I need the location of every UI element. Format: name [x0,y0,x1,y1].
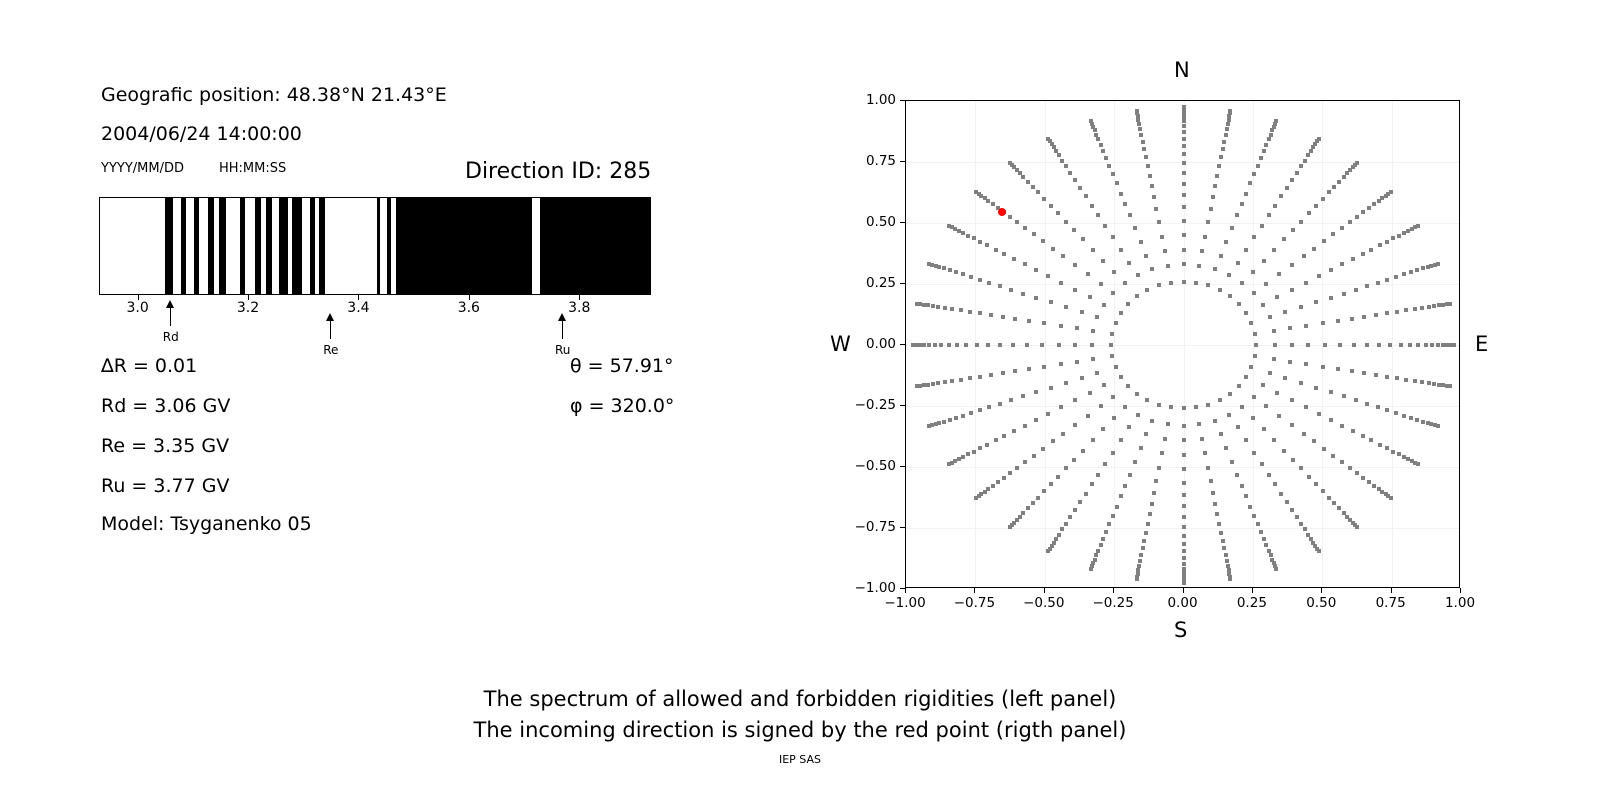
direction-point [936,381,940,385]
direction-point [1182,504,1186,508]
direction-point [1054,149,1058,153]
direction-point [1109,343,1113,347]
direction-point [994,438,998,442]
direction-point [1142,539,1146,543]
direction-point [1355,161,1359,165]
direction-point [961,414,965,418]
direction-point [911,343,915,347]
direction-point [1086,272,1090,276]
direction-point [1119,248,1123,252]
direction-point [1337,180,1341,184]
direction-point [1268,315,1272,319]
direction-point [978,240,982,244]
direction-point [1059,324,1063,328]
direction-point [1032,232,1036,236]
direction-point [1290,343,1294,347]
direction-id-label: Direction ID: 285 [465,159,651,184]
direction-point [1225,127,1229,131]
direction-point [1150,267,1154,271]
direction-point [1182,161,1186,165]
direction-point [1057,153,1061,157]
direction-point [989,313,993,317]
direction-point [1080,310,1084,314]
direction-point [1032,454,1036,458]
direction-point [1402,272,1406,276]
direction-point [948,418,952,422]
direction-point [1322,447,1326,451]
direction-point [1015,220,1019,224]
direction-point [950,379,954,383]
direction-point [943,380,947,384]
direction-point [1336,319,1340,323]
y-axis-tick [900,161,905,162]
forbidden-band [292,198,302,294]
direction-point [1225,559,1229,563]
direction-point [1378,243,1382,247]
direction-point [1111,514,1115,518]
direction-point [1427,381,1431,385]
direction-point [1013,369,1017,373]
direction-point [1354,398,1358,402]
direction-point [1338,343,1342,347]
direction-point [1274,567,1278,571]
direction-point [1015,466,1019,470]
direction-point [1163,249,1167,253]
direction-point [1352,343,1356,347]
direction-point [974,496,978,500]
x-axis-tick [1252,588,1253,593]
direction-point [978,278,982,282]
direction-point [954,416,958,420]
direction-point [1002,476,1006,480]
direction-point [1084,194,1088,198]
direction-point [1148,512,1152,516]
direction-point [1217,164,1221,168]
direction-point [1329,296,1333,300]
direction-point [969,275,973,279]
direction-point [1056,211,1060,215]
y-axis-tick [900,405,905,406]
direction-point [1224,446,1228,450]
direction-point [1061,432,1065,436]
direction-point [1093,128,1097,132]
direction-point [1282,237,1286,241]
direction-point [1021,292,1025,296]
direction-point [1249,365,1253,369]
direction-point [974,190,978,194]
direction-point [1261,303,1265,307]
direction-point [1306,343,1310,347]
direction-point [1273,204,1277,208]
direction-point [1283,376,1287,380]
direction-point [1211,195,1215,199]
direction-point [1009,288,1013,292]
direction-point [1182,424,1186,428]
direction-point [1090,343,1094,347]
direction-point [1148,174,1152,178]
direction-point [1248,505,1252,509]
direction-point [1115,181,1119,185]
direction-point [1049,300,1053,304]
direction-point [991,484,995,488]
direction-point [1262,259,1266,263]
direction-point [1264,143,1268,147]
direction-point [1372,202,1376,206]
direction-point [1421,420,1425,424]
direction-point [1110,332,1114,336]
rd-value: Rd = 3.06 GV [101,395,230,417]
direction-point [1299,466,1303,470]
direction-point [1253,332,1257,336]
direction-point [1182,581,1186,585]
direction-point [1023,460,1027,464]
direction-point [1329,418,1333,422]
direction-point [1104,530,1108,534]
direction-point [1088,295,1092,299]
direction-point [986,487,990,491]
direction-point [1302,254,1306,258]
x-axis-tick [905,588,906,593]
y-axis-tick-label: −1.00 [830,580,896,596]
direction-point [978,311,982,315]
direction-point [1272,329,1276,333]
direction-point [1279,194,1283,198]
direction-point [1397,234,1401,238]
direction-point [1112,416,1116,420]
direction-point [1302,432,1306,436]
direction-point [1262,537,1266,541]
direction-point [1182,262,1186,266]
footer-attribution: IEP SAS [0,753,1600,766]
direction-point [1021,394,1025,398]
direction-point [1182,248,1186,252]
direction-point [1144,155,1148,159]
direction-point [1385,375,1389,379]
direction-point [1209,479,1213,483]
direction-point [1011,343,1015,347]
direction-point [1059,362,1063,366]
direction-point [1409,416,1413,420]
direction-point [1119,375,1123,379]
direction-point [1378,443,1382,447]
direction-point [1027,319,1031,323]
direction-point [1127,261,1131,265]
direction-point [1262,149,1266,153]
direction-point [1385,446,1389,450]
direction-point [1342,175,1346,179]
direction-point [1365,402,1369,406]
direction-point [1197,422,1201,426]
direction-point [1123,484,1127,488]
direction-point [1362,371,1366,375]
direction-point [1256,164,1260,168]
horizontal-gridline [906,223,1459,224]
direction-point [1163,437,1167,441]
direction-point [1136,273,1140,277]
direction-point [1008,525,1012,529]
x-axis-tick-label: −0.25 [1092,595,1133,611]
direction-point [1217,522,1221,526]
direction-point [1182,453,1186,457]
direction-point [1304,324,1308,328]
direction-point [1264,543,1268,547]
direction-point [1001,315,1005,319]
direction-point [1042,197,1046,201]
direction-point [1049,482,1053,486]
direction-point [1046,137,1050,141]
direction-point [1135,109,1139,113]
direction-point [1008,471,1012,475]
direction-point [1088,391,1092,395]
direction-point [1236,261,1240,265]
direction-point [1389,190,1393,194]
direction-point [1295,171,1299,175]
direction-point [1057,533,1061,537]
direction-point [1351,429,1355,433]
x-axis-tick [1321,588,1322,593]
datetime-label: 2004/06/24 14:00:00 [101,123,302,145]
direction-point [1424,343,1428,347]
y-axis-tick-label: 0.50 [830,214,896,230]
direction-point [1277,272,1281,276]
direction-point [1299,305,1303,309]
direction-point [1290,508,1294,512]
direction-point [1348,466,1352,470]
direction-point [1244,311,1248,315]
direction-point [978,446,982,450]
ru-arrow-label: Ru [555,343,570,357]
direction-point [1388,343,1392,347]
direction-point [1361,476,1365,480]
direction-point [1408,343,1412,347]
direction-point [1123,281,1127,285]
direction-point [1182,144,1186,148]
direction-point [1219,432,1223,436]
direction-point [996,480,1000,484]
direction-point [1211,491,1215,495]
direction-point [1314,300,1318,304]
forbidden-band [255,198,261,294]
rd-arrow-line [170,307,172,326]
direction-point [1436,424,1440,428]
direction-point [1213,267,1217,271]
direction-point [1111,235,1115,239]
direction-point [1110,354,1114,358]
direction-point [1154,207,1158,211]
direction-point [1282,449,1286,453]
direction-point [1096,549,1100,553]
direction-point [1350,317,1354,321]
direction-point [1182,525,1186,529]
direction-point [1182,542,1186,546]
direction-point [1332,185,1336,189]
direction-point [1023,424,1027,428]
direction-point [1101,259,1105,263]
direction-point [1107,164,1111,168]
direction-point [1091,438,1095,442]
direction-point [1094,133,1098,137]
direction-point [1136,413,1140,417]
direction-point [969,411,973,415]
direction-point [1224,240,1228,244]
direction-point [1182,171,1186,175]
direction-point [933,343,937,347]
direction-point [1099,404,1103,408]
direction-point [1096,137,1100,141]
direction-point [1182,438,1186,442]
direction-point [1385,408,1389,412]
direction-point [1329,390,1333,394]
direction-point [1303,527,1307,531]
direction-point [1351,257,1355,261]
direction-point [1001,371,1005,375]
direction-point [1145,398,1149,402]
direction-point [1253,354,1257,358]
direction-point [1251,416,1255,420]
direction-point [1288,360,1292,364]
direction-point [1391,236,1395,240]
direction-point [1342,292,1346,296]
direction-point [1340,460,1344,464]
x-axis-tick-label: 3.6 [458,300,480,316]
direction-point [1144,531,1148,535]
direction-point [1135,392,1139,396]
direction-point [1072,458,1076,462]
direction-point [1142,147,1146,151]
direction-point [1013,317,1017,321]
direction-point [1385,278,1389,282]
direction-point [1200,437,1204,441]
direction-point [1420,306,1424,310]
direction-scatter-plot [905,100,1460,588]
direction-map-panel: N S W E −1.00−0.75−0.50−0.250.000.250.50… [830,40,1530,660]
direction-point [1361,252,1365,256]
direction-point [1291,228,1295,232]
direction-point [1290,398,1294,402]
direction-point [1144,254,1148,258]
forbidden-band [219,198,226,294]
direction-point [1160,235,1164,239]
direction-point [947,462,951,466]
direction-point [1415,418,1419,422]
direction-point [1182,515,1186,519]
direction-point [1144,432,1148,436]
direction-point [1096,213,1100,217]
x-axis-tick [1183,588,1184,593]
re-marker-arrow: Re [321,313,341,357]
direction-point [1299,381,1303,385]
direction-point [1376,281,1380,285]
x-axis-tick-label: 3.4 [347,300,369,316]
direction-point [1367,206,1371,210]
geographic-position-label: Geografic position: 48.38°N 21.43°E [101,84,447,106]
direction-point [1127,425,1131,429]
direction-point [985,443,989,447]
direction-point [1377,343,1381,347]
direction-point [1227,273,1231,277]
direction-point [1402,414,1406,418]
direction-point [1152,491,1156,495]
direction-point [1169,405,1173,409]
direction-point [1385,311,1389,315]
direction-point [1355,215,1359,219]
rigidity-spectrum-plot [99,197,651,295]
direction-point [1365,343,1369,347]
direction-point [1230,226,1234,230]
y-axis-tick-label: −0.50 [830,458,896,474]
rigidity-spectrum-panel: Geografic position: 48.38°N 21.43°E 2004… [0,0,760,660]
selected-direction-point [998,208,1006,216]
direction-point [1369,438,1373,442]
direction-point [1101,537,1105,541]
direction-point [1322,239,1326,243]
direction-point [1150,184,1154,188]
direction-point [1389,496,1393,500]
caption-line-2: The incoming direction is signed by the … [0,715,1600,746]
direction-point [1104,156,1108,160]
direction-point [1237,384,1241,388]
direction-point [1312,247,1316,251]
direction-point [961,455,965,459]
direction-point [1267,213,1271,217]
direction-point [1008,215,1012,219]
direction-point [1415,268,1419,272]
direction-point [1034,296,1038,300]
x-axis-tick [1113,588,1114,593]
direction-point [922,343,926,347]
direction-point [1237,302,1241,306]
direction-point [1091,248,1095,252]
direction-point [1299,220,1303,224]
direction-point [1432,382,1436,386]
direction-point [1056,475,1060,479]
ru-arrow-line [562,320,564,339]
direction-point [1327,496,1331,500]
direction-point [1228,294,1232,298]
direction-point [1290,263,1294,267]
direction-point [1215,512,1219,516]
direction-point [1203,235,1207,239]
direction-point [1317,137,1321,141]
direction-point [1329,268,1333,272]
direction-point [1394,275,1398,279]
direction-point [1064,305,1068,309]
direction-point [1075,326,1079,330]
direction-point [1267,473,1271,477]
vertical-gridline [1045,101,1046,587]
direction-point [1206,403,1210,407]
direction-point [1399,343,1403,347]
direction-point [1115,505,1119,509]
direction-point [1436,343,1440,347]
direction-point [1103,462,1107,466]
direction-point [1182,130,1186,134]
direction-point [926,383,930,387]
direction-point [954,270,958,274]
direction-point [1049,204,1053,208]
figure-caption: The spectrum of allowed and forbidden ri… [0,684,1600,746]
direction-point [1031,185,1035,189]
direction-point [1099,282,1103,286]
direction-point [1046,274,1050,278]
direction-point [1413,307,1417,311]
direction-point [1206,283,1210,287]
direction-point [1026,506,1030,510]
direction-point [1026,180,1030,184]
direction-point [1272,357,1276,361]
direction-point [1404,378,1408,382]
direction-point [1336,367,1340,371]
